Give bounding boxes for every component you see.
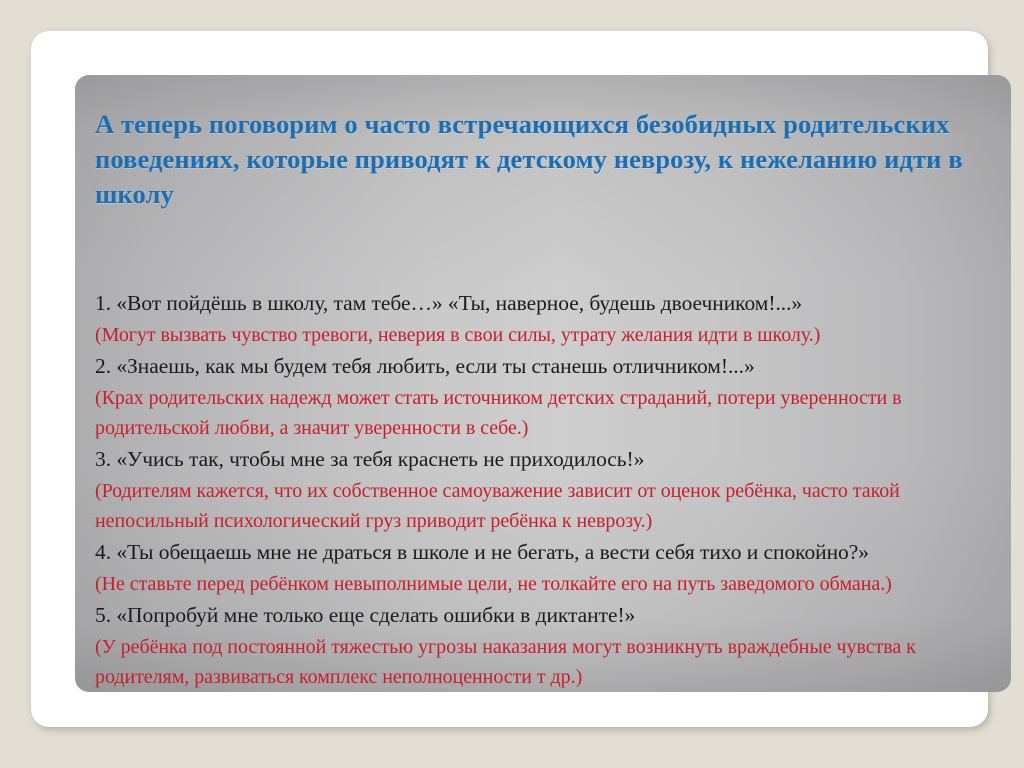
advice-list: 1. «Вот пойдёшь в школу, там тебе…» «Ты,… <box>95 287 1011 692</box>
list-item-commentary-1: (Могут вызвать чувство тревоги, неверия … <box>95 320 1011 350</box>
slide-canvas: А теперь поговорим о часто встречающихся… <box>0 0 1024 768</box>
list-item-commentary-3: (Родителям кажется, что их собственное с… <box>95 476 1011 536</box>
content-panel: А теперь поговорим о часто встречающихся… <box>75 75 1011 692</box>
list-item-statement-5: 5. «Попробуй мне только еще сделать ошиб… <box>95 599 1011 632</box>
list-item-statement-2: 2. «Знаешь, как мы будем тебя любить, ес… <box>95 350 1011 383</box>
list-item-commentary-4: (Не ставьте перед ребёнком невыполнимые … <box>95 569 1011 599</box>
list-item-statement-4: 4. «Ты обещаешь мне не драться в школе и… <box>95 536 1011 569</box>
slide-card: А теперь поговорим о часто встречающихся… <box>31 31 988 727</box>
slide-title: А теперь поговорим о часто встречающихся… <box>95 107 1003 212</box>
list-item-commentary-5: (У ребёнка под постоянной тяжестью угроз… <box>95 632 1011 692</box>
list-item-statement-1: 1. «Вот пойдёшь в школу, там тебе…» «Ты,… <box>95 287 1011 320</box>
slide-content: А теперь поговорим о часто встречающихся… <box>95 75 997 692</box>
list-item-statement-3: 3. «Учись так, чтобы мне за тебя краснет… <box>95 443 1011 476</box>
list-item-commentary-2: (Крах родительских надежд может стать ис… <box>95 383 1011 443</box>
